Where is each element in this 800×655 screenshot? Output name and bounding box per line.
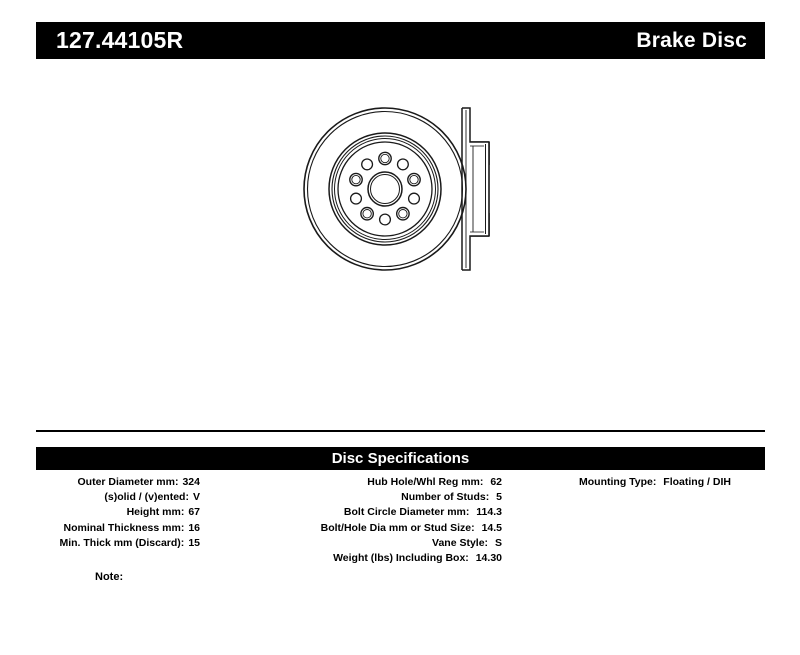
spec-label: (s)olid / (v)ented: <box>104 490 189 505</box>
brake-disc-edge-view <box>462 108 489 270</box>
brake-disc-drawing-svg <box>0 70 800 410</box>
spec-label: Bolt Circle Diameter mm: <box>344 506 469 518</box>
spec-value: 324 <box>178 475 200 490</box>
spec-row: (s)olid / (v)ented: V <box>0 490 212 505</box>
spec-label: Height mm: <box>127 505 185 520</box>
part-number: 127.44105R <box>56 29 183 52</box>
spec-section-title: Disc Specifications <box>332 451 470 466</box>
spec-value: S <box>491 537 502 549</box>
note-label: Note: <box>95 571 123 583</box>
product-type-label: Brake Disc <box>636 30 747 51</box>
spec-row: Bolt/Hole Dia mm or Stud Size: 14.5 <box>212 521 502 536</box>
spec-label: Number of Studs: <box>401 491 489 503</box>
note-value <box>123 571 129 583</box>
product-drawing <box>0 70 800 410</box>
spec-label: Bolt/Hole Dia mm or Stud Size: <box>321 522 475 534</box>
spec-value: Floating / DIH <box>659 476 731 488</box>
spec-label: Min. Thick mm (Discard): <box>59 536 184 551</box>
spec-row: Hub Hole/Whl Reg mm: 62 <box>212 475 502 490</box>
spec-value: 16 <box>184 521 200 536</box>
spec-column-middle: Hub Hole/Whl Reg mm: 62 Number of Studs:… <box>212 475 502 566</box>
spec-row: Bolt Circle Diameter mm: 114.3 <box>212 505 502 520</box>
spec-value: 62 <box>486 476 502 488</box>
spec-column-left: Outer Diameter mm: 324 (s)olid / (v)ente… <box>0 475 212 551</box>
spec-label: Mounting Type: <box>579 476 656 488</box>
spec-value: 67 <box>184 505 200 520</box>
spec-row: Mounting Type: Floating / DIH <box>502 475 792 490</box>
spec-value: V <box>189 490 200 505</box>
spec-row: Height mm: 67 <box>0 505 212 520</box>
spec-row: Number of Studs: 5 <box>212 490 502 505</box>
spec-label: Weight (lbs) Including Box: <box>333 552 469 564</box>
spec-value: 14.30 <box>472 552 502 564</box>
spec-label: Outer Diameter mm: <box>78 475 179 490</box>
spec-value: 5 <box>492 491 502 503</box>
section-divider <box>36 430 765 432</box>
note-row: Note: <box>95 570 129 585</box>
spec-row: Min. Thick mm (Discard): 15 <box>0 536 212 551</box>
spec-row: Outer Diameter mm: 324 <box>0 475 212 490</box>
spec-value: 114.3 <box>472 506 502 518</box>
spec-value: 15 <box>184 536 200 551</box>
spec-label: Vane Style: <box>432 537 488 549</box>
spec-row: Nominal Thickness mm: 16 <box>0 521 212 536</box>
spec-row: Weight (lbs) Including Box: 14.30 <box>212 551 502 566</box>
spec-label: Nominal Thickness mm: <box>64 521 185 536</box>
title-bar: 127.44105R Brake Disc <box>36 22 765 59</box>
spec-label: Hub Hole/Whl Reg mm: <box>367 476 483 488</box>
spec-row: Vane Style: S <box>212 536 502 551</box>
spec-section-header: Disc Specifications <box>36 447 765 470</box>
spec-value: 14.5 <box>478 522 502 534</box>
brake-disc-face-view <box>304 108 466 270</box>
spec-column-right: Mounting Type: Floating / DIH <box>502 475 792 490</box>
